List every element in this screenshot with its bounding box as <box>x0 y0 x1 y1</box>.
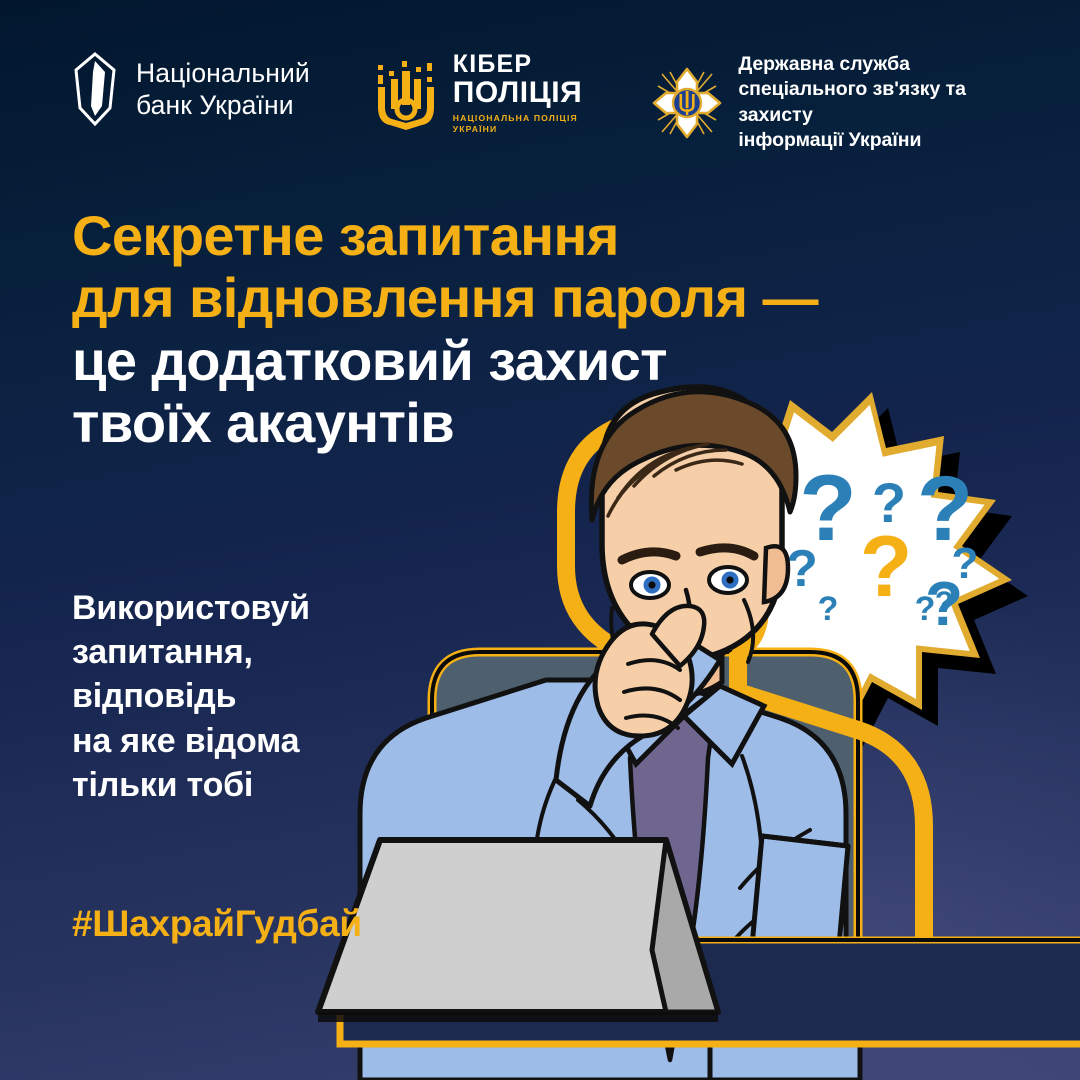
logo-bar: Національний банк України <box>72 52 1040 153</box>
logo-cyber-police: КІБЕР ПОЛІЦІЯ НАЦІОНАЛЬНА ПОЛІЦІЯ УКРАЇН… <box>372 52 583 136</box>
logo-national-bank-of-ukraine: Національний банк України <box>72 52 310 126</box>
dsszzi-cross-trident-icon <box>652 66 722 140</box>
logo-dsszzi: Державна служба спеціального зв'язку та … <box>652 52 1040 153</box>
nbu-hexagon-leaf-icon <box>72 52 118 126</box>
body-copy: Використовуй запитання, відповідь на яке… <box>72 586 310 807</box>
dsszzi-label: Державна служба спеціального зв'язку та … <box>738 52 1040 153</box>
headline-line-3: це додатковий захист <box>72 330 972 392</box>
headline-line-4: твоїх акаунтів <box>72 392 972 454</box>
headline-line-2: для відновлення пароля — <box>72 267 972 329</box>
cyber-police-subtitle: НАЦІОНАЛЬНА ПОЛІЦІЯ УКРАЇНИ <box>453 113 583 136</box>
cyber-police-line2: ПОЛІЦІЯ <box>453 78 583 108</box>
nbu-label: Національний банк України <box>136 57 310 122</box>
cyber-police-line1: КІБЕР <box>453 52 583 77</box>
cyber-police-label: КІБЕР ПОЛІЦІЯ НАЦІОНАЛЬНА ПОЛІЦІЯ УКРАЇН… <box>453 52 583 136</box>
cyber-police-trident-icon <box>372 57 440 131</box>
poster-root: ? ? ? ? ? ? ? ? ? ? <box>0 0 1080 1080</box>
hashtag: #ШахрайГудбай <box>72 903 362 945</box>
headline-line-1: Секретне запитання <box>72 205 972 267</box>
headline: Секретне запитання для відновлення парол… <box>72 205 972 455</box>
